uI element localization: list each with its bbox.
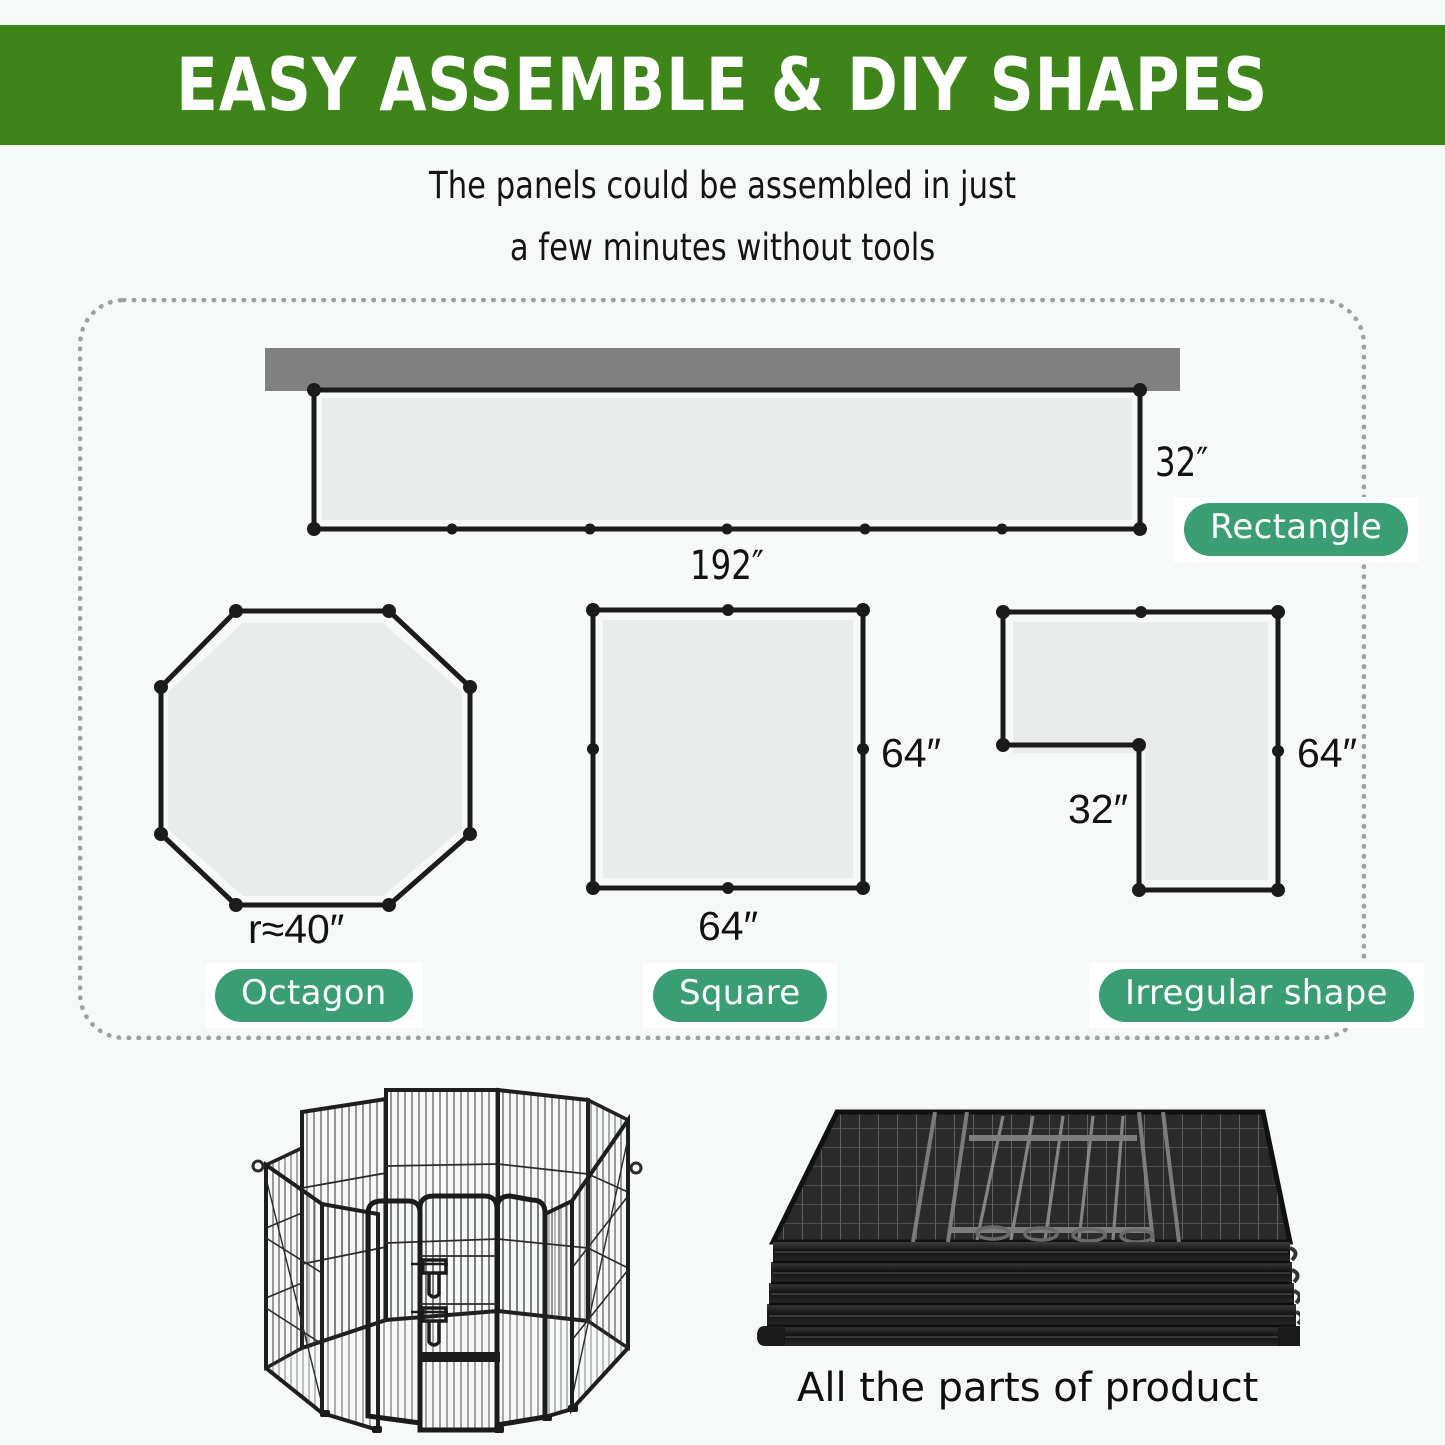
subtitle: The panels could be assembled in just a … — [0, 155, 1445, 279]
irregular-height-label: 64″ — [1297, 730, 1357, 777]
square-width-label: 64″ — [698, 903, 758, 950]
folded-panels-photo — [745, 1090, 1300, 1355]
header-banner: EASY ASSEMBLE & DIY SHAPES — [0, 25, 1445, 145]
badge-square: Square — [643, 963, 837, 1028]
square-height-label: 64″ — [881, 730, 941, 777]
badge-irregular-shape: Irregular shape — [1089, 963, 1424, 1028]
subtitle-line-2: a few minutes without tools — [58, 217, 1387, 279]
rectangle-width-label: 192″ — [690, 543, 764, 589]
badge-octagon: Octagon — [205, 963, 423, 1028]
infographic-page: EASY ASSEMBLE & DIY SHAPES The panels co… — [0, 0, 1445, 1445]
folded-panels-caption: All the parts of product — [797, 1365, 1258, 1411]
assembled-playpen-photo — [236, 1068, 696, 1438]
page-title: EASY ASSEMBLE & DIY SHAPES — [176, 43, 1268, 128]
badge-octagon-label: Octagon — [215, 969, 413, 1022]
irregular-notch-label: 32″ — [1068, 786, 1128, 833]
subtitle-line-1: The panels could be assembled in just — [58, 155, 1387, 217]
badge-rectangle: Rectangle — [1174, 497, 1418, 562]
badge-irregular-shape-label: Irregular shape — [1099, 969, 1414, 1022]
badge-square-label: Square — [653, 969, 827, 1022]
rectangle-height-label: 32″ — [1155, 440, 1208, 486]
badge-rectangle-label: Rectangle — [1184, 503, 1408, 556]
octagon-radius-label: r≈40″ — [248, 906, 344, 953]
